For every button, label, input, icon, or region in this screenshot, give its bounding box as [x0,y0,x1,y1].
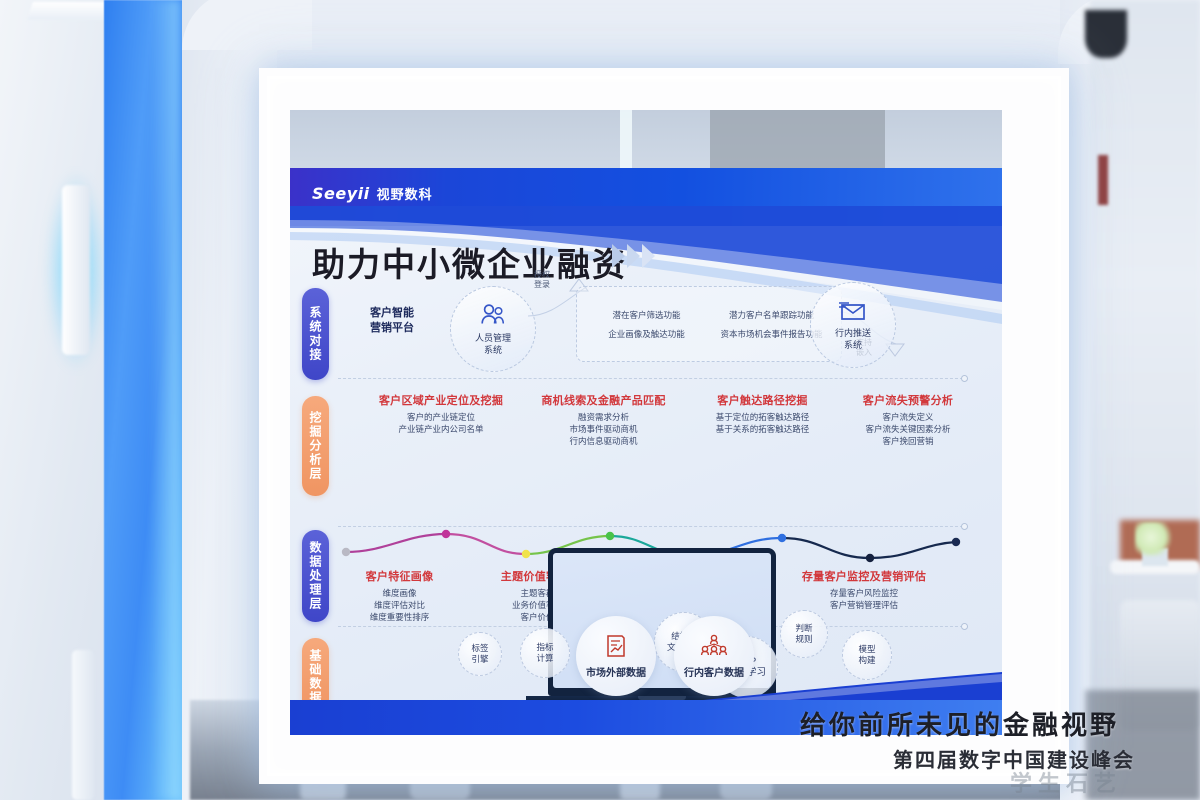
wall-fixture-lower [72,650,94,800]
poster: Seeyii 视野数科 助力中小微企业融资 系统对接 挖掘分析层 数据处理层 基… [290,110,1002,735]
analysis-top-item-0[interactable]: 客户区域产业定位及挖掘 客户的产业链定位 产业链产业内公司名单 [366,392,516,435]
logo-wordmark: Seeyii [312,184,370,203]
analysis-bottom-title-3: 存量客户监控及营销评估 [778,568,950,584]
pillar-highlight [150,0,180,800]
booth-scene: Seeyii 视野数科 助力中小微企业融资 系统对接 挖掘分析层 数据处理层 基… [0,0,1200,800]
function-list-box: 潜在客户筛选功能 潜力客户名单跟踪功能 企业画像及触达功能 资本市场机会事件报告… [576,286,842,362]
poster-top-glass [290,110,1002,170]
wall-fixture [62,185,90,355]
poster-top-glass-seam [620,110,632,172]
analysis-top-0-sub-1: 产业链产业内公司名单 [366,423,516,435]
function-item-0: 潜在客户筛选功能 [589,309,704,321]
connector-left-line1: 授权 [522,270,562,280]
logo-chinese-name: 视野数科 [377,184,433,203]
dp-node-5-line2: 规则 [795,634,812,645]
analysis-bottom-title-0: 客户特征画像 [332,568,467,584]
analysis-top-1-sub-0: 融资需求分析 [526,411,681,423]
analysis-bottom-3-sub-0: 存量客户风险监控 [778,587,950,599]
ceiling-light-strip [27,2,115,20]
title-chevrons-icon [612,244,655,268]
background-dark-fixture [1085,10,1127,58]
platform-label: 客户智能 营销平台 [352,306,432,336]
analysis-top-item-3[interactable]: 客户流失预警分析 客户流失定义 客户流失关键因素分析 客户挽回营销 [838,392,978,447]
platform-label-line2: 营销平台 [352,321,432,336]
poster-top-glass-panel [710,110,885,175]
analysis-top-2-sub-1: 基于关系的拓客触达路径 [690,423,835,435]
analysis-top-title-0: 客户区域产业定位及挖掘 [366,392,516,408]
dp-node-5-line1: 判断 [795,623,812,634]
connector-left-label: 授权 登录 [522,270,562,290]
divider-dot-1 [961,375,968,382]
node-personnel-management-system[interactable]: 人员管理 系统 [450,286,536,372]
analysis-bottom-0-sub-0: 维度画像 [332,587,467,599]
analysis-top-2-sub-0: 基于定位的拓客触达路径 [690,411,835,423]
node-personnel-line2: 系统 [475,344,511,356]
function-item-2: 企业画像及触达功能 [589,328,704,340]
analysis-bottom-0-sub-1: 维度评估对比 [332,599,467,611]
booth-left-wall [0,0,120,800]
users-icon [480,303,506,327]
analysis-top-3-sub-0: 客户流失定义 [838,411,978,423]
node-internal-push-system[interactable]: 行内推送 系统 [810,282,896,368]
analysis-top-3-sub-2: 客户挽回营销 [838,435,978,447]
booth-banner-headline: 给你前所未见的金融视野 [800,705,1119,742]
analysis-top-3-sub-1: 客户流失关键因素分析 [838,423,978,435]
analysis-top-1-sub-1: 市场事件驱动商机 [526,423,681,435]
panel-wall-curve [182,0,312,50]
connector-left-line2: 登录 [522,280,562,290]
layer-tab-system[interactable]: 系统对接 [302,288,329,380]
layer-tab-analysis[interactable]: 挖掘分析层 [302,396,329,496]
node-personnel-line1: 人员管理 [475,332,511,344]
background-red-panel [1098,155,1108,205]
photo-watermark: 学生石艺 [1010,766,1122,798]
node-push-line2: 系统 [835,339,871,351]
background-flowers [1135,522,1175,556]
platform-label-line1: 客户智能 [352,306,432,321]
analysis-top-0-sub-0: 客户的产业链定位 [366,411,516,423]
analysis-top-title-2: 客户触达路径挖掘 [690,392,835,408]
divider-2 [338,526,963,527]
analysis-top-1-sub-2: 行内信息驱动商机 [526,435,681,447]
analysis-top-item-2[interactable]: 客户触达路径挖掘 基于定位的拓客触达路径 基于关系的拓客触达路径 [690,392,835,435]
node-push-line1: 行内推送 [835,327,871,339]
divider-1 [338,378,963,379]
analysis-bottom-item-3[interactable]: 存量客户监控及营销评估 存量客户风险监控 客户营销管理评估 [778,568,950,611]
blue-pillar [104,0,194,800]
analysis-top-item-1[interactable]: 商机线索及金融产品匹配 融资需求分析 市场事件驱动商机 行内信息驱动商机 [526,392,681,447]
mail-icon [839,300,867,322]
analysis-bottom-0-sub-2: 维度重要性排序 [332,611,467,623]
divider-dot-3 [961,623,968,630]
analysis-bottom-item-0[interactable]: 客户特征画像 维度画像 维度评估对比 维度重要性排序 [332,568,467,623]
analysis-top-title-1: 商机线索及金融产品匹配 [526,392,681,408]
brand-logo: Seeyii 视野数科 [312,184,433,203]
analysis-top-title-3: 客户流失预警分析 [838,392,978,408]
layer-tab-data-processing[interactable]: 数据处理层 [302,530,329,622]
